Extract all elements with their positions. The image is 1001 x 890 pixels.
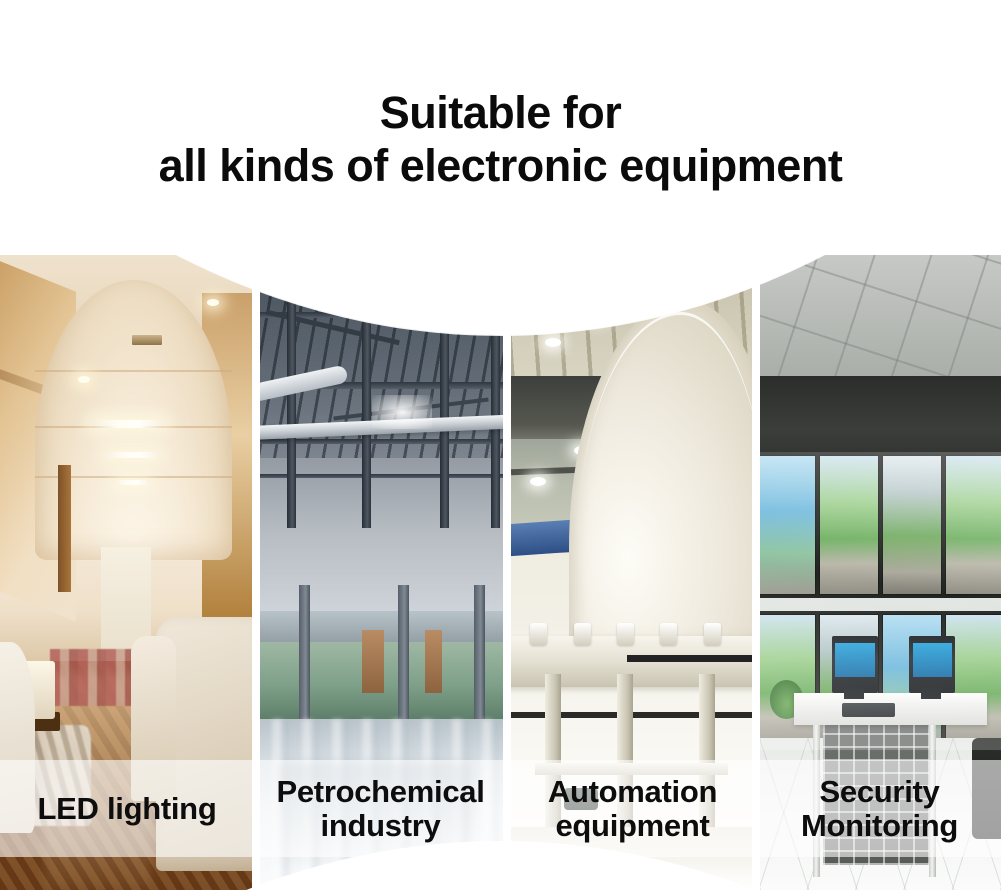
led-strip-light [91,420,167,428]
suspended-ceiling-tiles [760,255,1001,382]
floor-reflection [279,763,473,877]
plant-column [398,585,409,725]
ceiling-rib [35,370,232,372]
plant-column [474,585,485,725]
conveyor-roller [574,623,591,645]
collage-panel-security-monitoring [760,255,1001,890]
desktop-monitor [832,636,878,693]
collage-panels [0,255,1001,890]
perforated-metal-panel [823,725,934,865]
conveyor-roller [704,623,721,645]
photo-automation-machinery [511,255,752,890]
monitor-stand [921,687,940,700]
page-title: Suitable for all kinds of electronic equ… [0,86,1001,192]
cctv-video-wall [760,452,1001,598]
cctv-monitor [882,455,942,595]
collage-panel-led-lighting [0,255,252,890]
ceiling-vent [131,334,163,346]
cctv-monitor [945,455,1001,595]
roof-beam [260,474,503,478]
headline-line-2: all kinds of electronic equipment [0,139,1001,192]
pallet-crate [362,630,384,694]
armchair [0,642,35,833]
conveyor-roller [530,623,547,645]
cctv-monitor [819,455,879,595]
cctv-monitor [760,455,816,595]
led-strip-light [116,480,149,485]
machine-rail [627,655,752,662]
bearing-housing [564,788,598,810]
high-bay-light [372,395,432,429]
conveyor-roller [617,623,634,645]
plant-column [299,585,310,725]
conveyor-roller [660,623,677,645]
collage-panel-automation-equipment [511,255,752,890]
desktop-monitor [909,636,955,693]
factory-floor [511,827,752,890]
led-strip-light [106,452,159,458]
steel-column [287,274,296,528]
machine-frame-crossbar [535,763,728,775]
collage-band: LED lighting Petrochemical industry Auto… [0,255,1001,890]
recessed-spotlight [78,376,90,383]
photo-security-control-room [760,255,1001,890]
steel-column [440,274,449,528]
headline-line-1: Suitable for [0,86,1001,139]
monitor-screen [835,643,874,677]
product-feature-poster: Suitable for all kinds of electronic equ… [0,0,1001,890]
monitor-screen [913,643,952,677]
keyboard [842,703,895,717]
photo-led-lighting-interior [0,255,252,890]
office-chair [972,738,1001,840]
desk-leg [929,725,936,877]
collage-panel-petrochemical-industry [260,255,503,890]
pallet-crate [425,630,442,694]
roof-beam [260,439,503,444]
hallway-column [58,465,71,592]
sofa-arm [131,636,176,801]
high-bay-light [545,338,561,347]
monitor-stand [844,687,863,700]
steel-column [491,274,500,528]
desk-leg [813,725,820,877]
photo-petrochemical-plant [260,255,503,890]
steel-column [362,274,371,528]
